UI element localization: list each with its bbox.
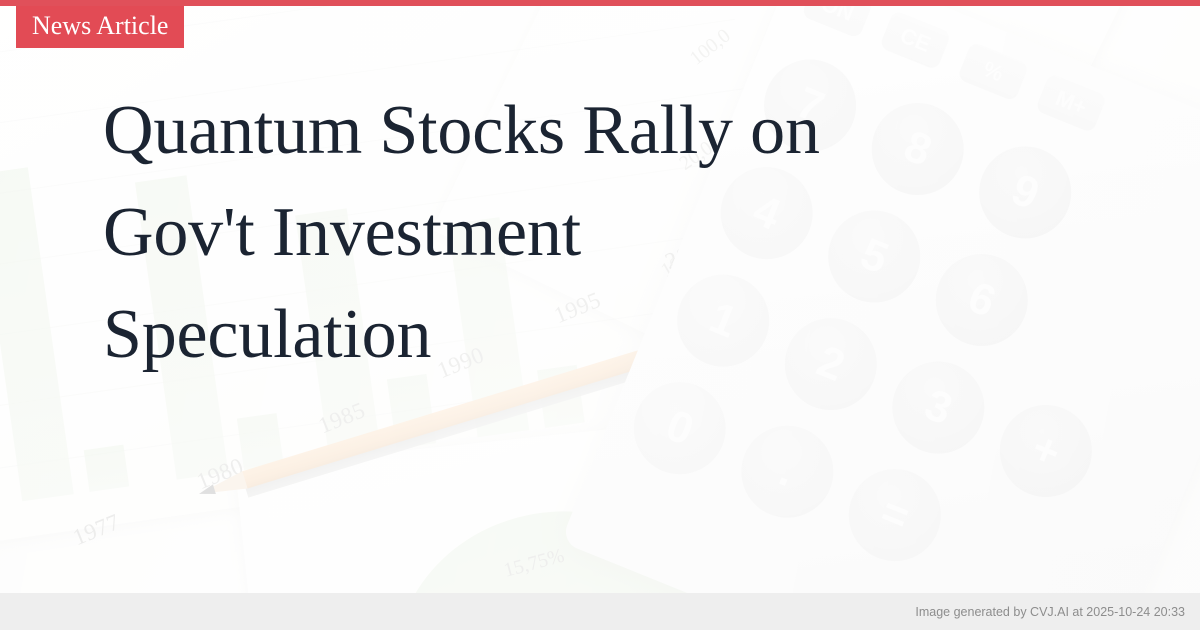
page-title-line: Gov't Investment	[103, 182, 1003, 284]
poster-canvas: 1977 1980 1985 1990 1995 2000 100,0 106,…	[0, 0, 1200, 630]
page-title: Quantum Stocks Rally on Gov't Investment…	[103, 80, 1003, 387]
page-title-line: Quantum Stocks Rally on	[103, 80, 1003, 182]
page-title-line: Speculation	[103, 284, 1003, 386]
attribution-text: Image generated by CVJ.AI at 2025-10-24 …	[915, 605, 1200, 619]
footer-bar: Image generated by CVJ.AI at 2025-10-24 …	[0, 593, 1200, 630]
category-badge: News Article	[16, 6, 184, 48]
